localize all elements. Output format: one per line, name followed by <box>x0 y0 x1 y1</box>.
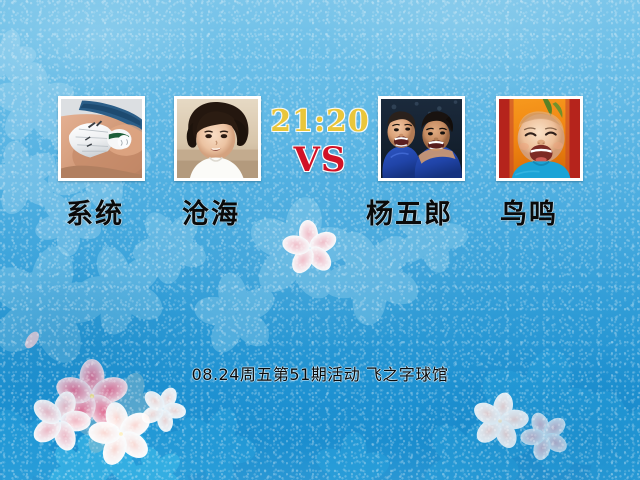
player-avatar-slot-3[interactable] <box>378 96 465 181</box>
sakura-bright-blue-cluster <box>35 416 194 480</box>
sakura-silhouette-group-bottom <box>0 333 640 480</box>
water-blotch-layer <box>0 0 640 480</box>
curly-haired-child-photo <box>177 99 258 178</box>
speckle-texture-layer <box>0 0 640 480</box>
laughing-baby-photo <box>499 99 580 178</box>
player-name-3: 杨五郎 <box>366 192 453 231</box>
sakura-decoration-layer <box>0 0 640 480</box>
player-name-4: 鸟鸣 <box>500 192 558 231</box>
sakura-teal-accents <box>71 363 170 460</box>
player-avatar-slot-1[interactable] <box>58 96 145 181</box>
match-time-label: 21:20 <box>270 104 370 139</box>
shuttlecock-in-hand-photo <box>61 99 142 178</box>
player-avatar-slot-2[interactable] <box>174 96 261 181</box>
avatar-frame <box>496 96 583 181</box>
avatar-frame <box>58 96 145 181</box>
avatar-frame <box>174 96 261 181</box>
player-name-2: 沧海 <box>182 192 240 231</box>
vs-text: VS <box>294 140 347 180</box>
match-banner-screen: 系统 <box>0 0 640 480</box>
avatar-frame <box>378 96 465 181</box>
footballers-celebrating-photo <box>381 99 462 178</box>
player-avatar-slot-4[interactable] <box>496 96 583 181</box>
sakura-foreground-blooms <box>20 217 579 474</box>
player-name-1: 系统 <box>66 192 124 231</box>
event-caption: 08.24周五第51期活动 飞之字球馆 <box>0 361 640 385</box>
event-caption-text: 08.24周五第51期活动 飞之字球馆 <box>192 365 449 384</box>
